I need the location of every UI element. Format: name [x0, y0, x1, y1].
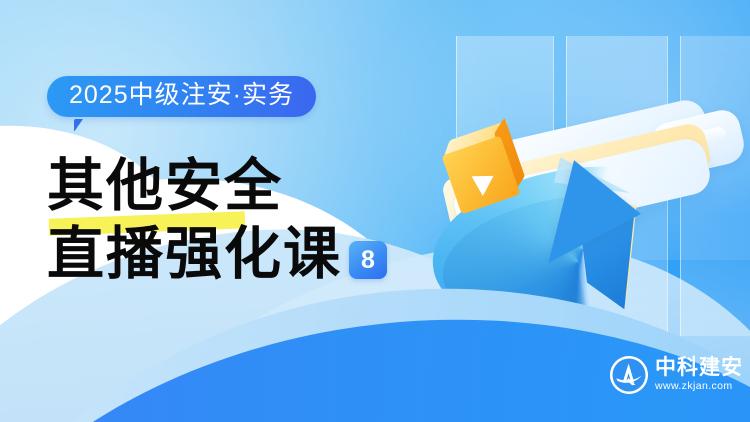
title-block: 其他安全 直播强化课 8	[47, 152, 387, 288]
episode-number-badge: 8	[349, 241, 387, 279]
zkjan-circle-logo-icon	[610, 356, 648, 394]
logo-brand-name: 中科建安	[655, 357, 743, 379]
title-line-2: 直播强化课 8	[47, 220, 387, 288]
title-line-1-text: 其他安全	[47, 152, 283, 219]
course-category-badge: 2025中级注安·实务	[47, 76, 316, 117]
badge-tail	[74, 119, 92, 132]
title-line-2-text: 直播强化课	[47, 220, 342, 288]
title-line-1: 其他安全	[47, 152, 387, 220]
play-triangle-icon	[472, 176, 494, 196]
logo-text-block: 中科建安 www.zkjan.com	[655, 357, 743, 393]
logo-website-url: www.zkjan.com	[655, 380, 743, 393]
course-banner: 2025中级注安·实务 其他安全 直播强化课 8 中科建安 www.zkjan.…	[0, 0, 750, 422]
brand-logo[interactable]: 中科建安 www.zkjan.com	[610, 356, 743, 394]
